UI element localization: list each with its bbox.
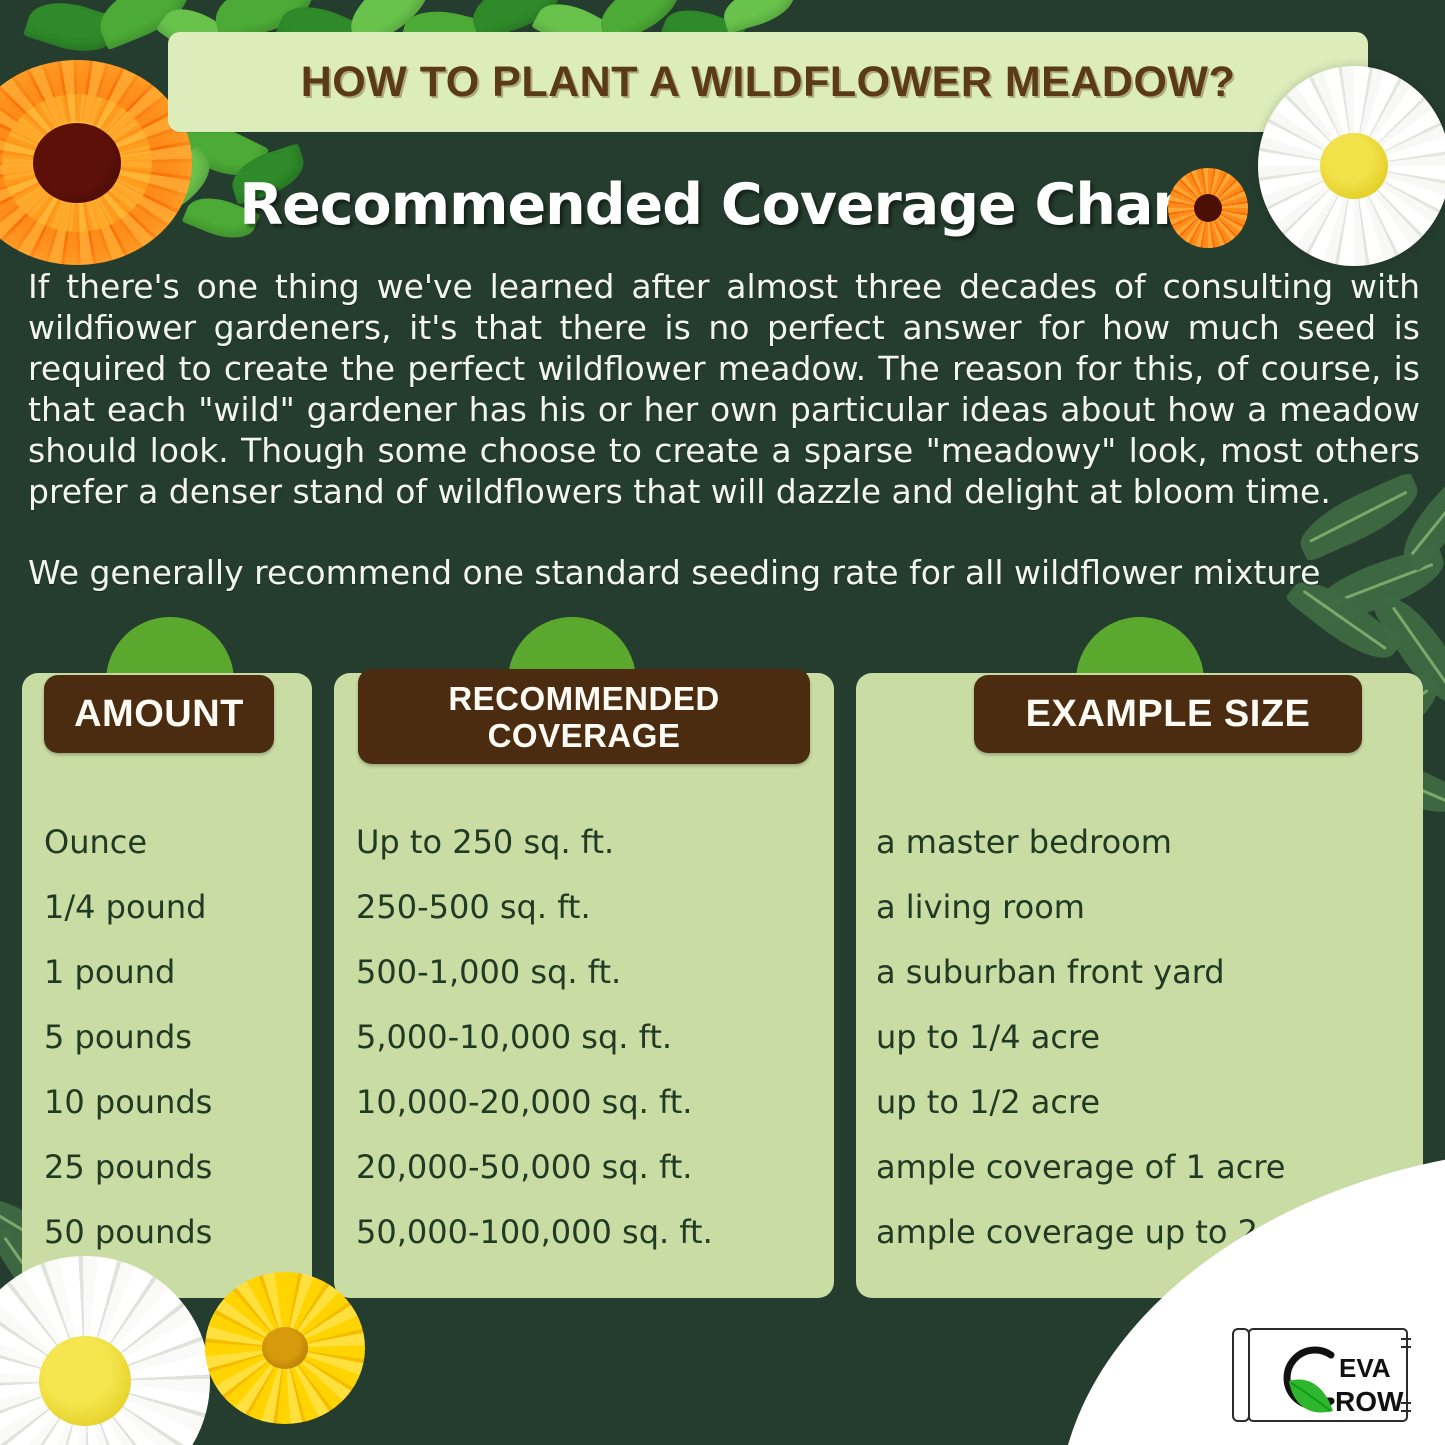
column-header-example: EXAMPLE SIZE — [974, 675, 1362, 753]
logo-text-row: ROW — [1335, 1386, 1404, 1417]
table-cell: Up to 250 sq. ft. — [356, 810, 836, 875]
coverage-table: AMOUNT RECOMMENDED COVERAGE EXAMPLE SIZE… — [0, 645, 1445, 1285]
table-cell: up to 1/4 acre — [876, 1005, 1436, 1070]
page-title: HOW TO PLANT A WILDFLOWER MEADOW? — [301, 58, 1236, 107]
table-cell: Ounce — [44, 810, 312, 875]
table-cell: 20,000-50,000 sq. ft. — [356, 1135, 836, 1200]
intro-paragraph-1: If there's one thing we've learned after… — [28, 266, 1420, 512]
flower-core — [262, 1327, 308, 1369]
table-cell: a master bedroom — [876, 810, 1436, 875]
table-cell: a suburban front yard — [876, 940, 1436, 1005]
table-cell: 50 pounds — [44, 1200, 312, 1265]
page-subtitle: Recommended Coverage Chart — [239, 172, 1206, 238]
column-header-coverage: RECOMMENDED COVERAGE — [358, 669, 810, 764]
table-cell: 10 pounds — [44, 1070, 312, 1135]
table-cell: up to 1/2 acre — [876, 1070, 1436, 1135]
infographic-canvas: HOW TO PLANT A WILDFLOWER MEADOW? Recomm… — [0, 0, 1445, 1445]
flower-core — [39, 1336, 131, 1426]
table-cell: 25 pounds — [44, 1135, 312, 1200]
column-header-amount: AMOUNT — [44, 675, 274, 753]
column-values-amount: Ounce1/4 pound1 pound5 pounds10 pounds25… — [44, 810, 312, 1265]
table-cell: 1 pound — [44, 940, 312, 1005]
table-cell: 50,000-100,000 sq. ft. — [356, 1200, 836, 1265]
logo-text-eva: EVA — [1339, 1353, 1391, 1383]
logo-mark-icon: EVA ROW — [1227, 1319, 1423, 1431]
table-cell: 5,000-10,000 sq. ft. — [356, 1005, 836, 1070]
table-cell: 5 pounds — [44, 1005, 312, 1070]
table-cell: 1/4 pound — [44, 875, 312, 940]
subtitle-row: Recommended Coverage Chart — [0, 160, 1445, 250]
intro-paragraph-2: We generally recommend one standard seed… — [28, 552, 1420, 593]
table-cell: 500-1,000 sq. ft. — [356, 940, 836, 1005]
eva-grow-logo: EVA ROW — [1227, 1319, 1423, 1431]
table-cell: 250-500 sq. ft. — [356, 875, 836, 940]
table-cell: a living room — [876, 875, 1436, 940]
table-cell: 10,000-20,000 sq. ft. — [356, 1070, 836, 1135]
column-values-coverage: Up to 250 sq. ft.250-500 sq. ft.500-1,00… — [356, 810, 836, 1265]
title-banner: HOW TO PLANT A WILDFLOWER MEADOW? — [168, 32, 1368, 132]
